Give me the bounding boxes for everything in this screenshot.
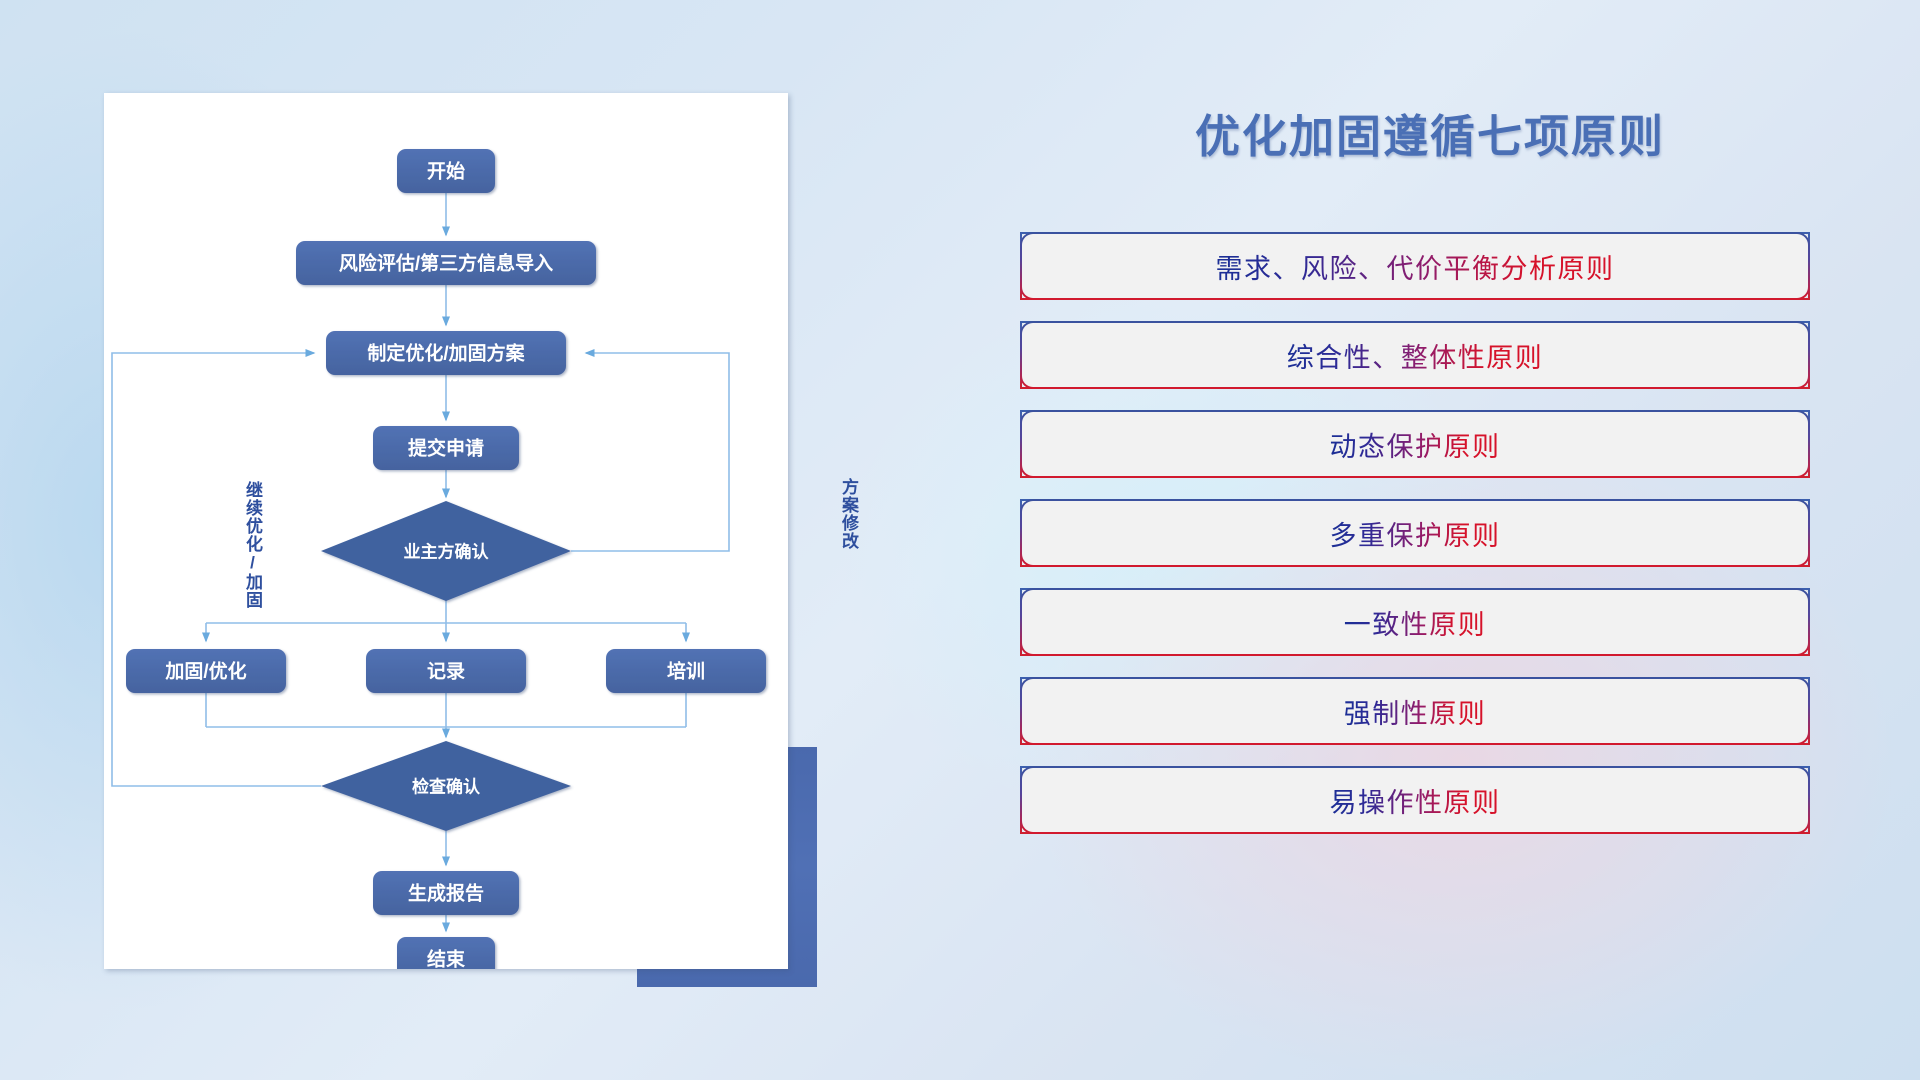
principle-item-2[interactable]: 综合性、整体性原则 (1020, 321, 1810, 389)
principle-label-5: 一致性原则 (1344, 603, 1487, 642)
flow-node-generate-report-label: 生成报告 (408, 882, 484, 905)
flow-node-generate-report[interactable]: 生成报告 (373, 871, 519, 915)
flow-node-end[interactable]: 结束 (397, 937, 495, 969)
principle-item-5[interactable]: 一致性原则 (1020, 588, 1810, 656)
principle-label-7: 易操作性原则 (1330, 781, 1501, 820)
principle-item-3[interactable]: 动态保护原则 (1020, 410, 1810, 478)
principle-label-3: 动态保护原则 (1330, 425, 1501, 464)
principle-item-6[interactable]: 强制性原则 (1020, 677, 1810, 745)
flow-node-record-label: 记录 (427, 661, 465, 683)
principle-list: 需求、风险、代价平衡分析原则 综合性、整体性原则 动态保护原则 多重保护原则 一… (1020, 232, 1810, 855)
flow-node-owner-confirm[interactable]: 业主方确认 (321, 501, 571, 601)
page-title: 优化加固遵循七项原则 (1020, 100, 1840, 165)
flow-node-risk-assessment-label: 风险评估/第三方信息导入 (339, 252, 553, 275)
principle-item-4[interactable]: 多重保护原则 (1020, 499, 1810, 567)
flowchart-card: 开始 风险评估/第三方信息导入 制定优化/加固方案 提交申请 业主方确认 (104, 93, 788, 969)
flow-node-record[interactable]: 记录 (366, 649, 526, 693)
flow-node-reinforce-optimize-label: 加固/优化 (164, 660, 246, 683)
flow-node-risk-assessment[interactable]: 风险评估/第三方信息导入 (296, 241, 596, 285)
principles-panel: 优化加固遵循七项原则 需求、风险、代价平衡分析原则 综合性、整体性原则 动态保护… (1020, 100, 1840, 1010)
flow-node-end-label: 结束 (427, 948, 466, 970)
principle-item-1[interactable]: 需求、风险、代价平衡分析原则 (1020, 232, 1810, 300)
flow-node-start[interactable]: 开始 (397, 149, 495, 193)
flowchart-diagram: 开始 风险评估/第三方信息导入 制定优化/加固方案 提交申请 业主方确认 (104, 93, 788, 969)
flow-node-reinforce-optimize[interactable]: 加固/优化 (126, 649, 286, 693)
flow-node-owner-confirm-label: 业主方确认 (404, 542, 490, 562)
principle-label-2: 综合性、整体性原则 (1287, 336, 1544, 375)
flow-node-submit-application-label: 提交申请 (408, 437, 484, 460)
flow-node-inspection-confirm-label: 检查确认 (412, 777, 481, 797)
edge-label-continue-optimize: 继续优化/加固 (244, 481, 261, 609)
flow-node-make-plan[interactable]: 制定优化/加固方案 (326, 331, 566, 375)
slide-canvas: 开始 风险评估/第三方信息导入 制定优化/加固方案 提交申请 业主方确认 (0, 0, 1920, 1080)
flow-node-inspection-confirm[interactable]: 检查确认 (321, 741, 571, 831)
flow-node-start-label: 开始 (427, 160, 465, 183)
principle-label-1: 需求、风险、代价平衡分析原则 (1216, 247, 1615, 286)
principle-label-6: 强制性原则 (1344, 692, 1487, 731)
flow-node-training-label: 培训 (667, 660, 705, 683)
flow-node-make-plan-label: 制定优化/加固方案 (367, 342, 525, 365)
flow-node-submit-application[interactable]: 提交申请 (373, 426, 519, 470)
principle-label-4: 多重保护原则 (1330, 514, 1501, 553)
principle-item-7[interactable]: 易操作性原则 (1020, 766, 1810, 834)
edge-label-plan-revision: 方案修改 (840, 478, 857, 550)
flow-node-training[interactable]: 培训 (606, 649, 766, 693)
